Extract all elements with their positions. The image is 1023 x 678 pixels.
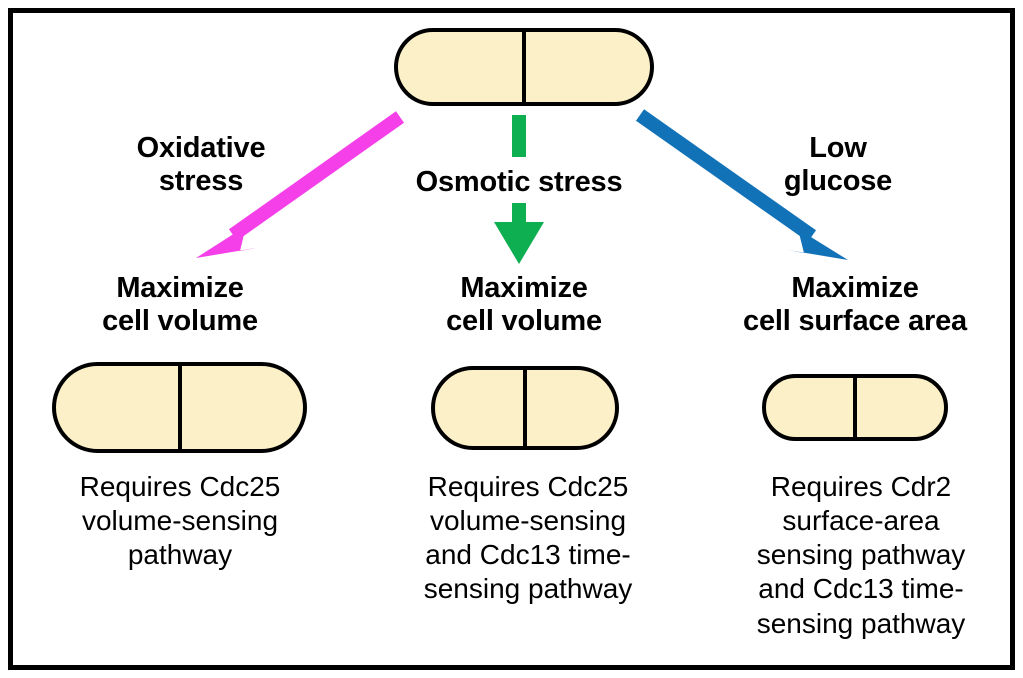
stress-label-oxidative-line-2: stress [76,165,326,198]
low-glucose-cell [762,374,948,441]
outcome-label-osmotic: Maximize cell volume [397,272,651,338]
outcome-label-low-glucose: Maximize cell surface area [710,272,1000,338]
caption-low-glucose-line-5: sensing pathway [722,607,1000,641]
caption-oxidative: Requires Cdc25 volume-sensing pathway [45,470,315,572]
outcome-label-oxidative-line-2: cell volume [53,305,307,338]
cell-septum [178,366,182,449]
outcome-label-osmotic-line-1: Maximize [397,272,651,305]
cell-septum [853,378,857,437]
osmotic-stress-cell [431,366,619,450]
caption-low-glucose-line-4: and Cdc13 time- [722,572,1000,606]
figure-canvas: Oxidative stress Osmotic stress Low gluc… [0,0,1023,678]
stress-label-oxidative-line-1: Oxidative [76,132,326,165]
outcome-label-oxidative: Maximize cell volume [53,272,307,338]
outcome-label-low-glucose-line-1: Maximize [710,272,1000,305]
caption-oxidative-line-3: pathway [45,538,315,572]
caption-osmotic-line-3: and Cdc13 time- [392,538,664,572]
caption-osmotic: Requires Cdc25 volume-sensing and Cdc13 … [392,470,664,607]
caption-osmotic-line-1: Requires Cdc25 [392,470,664,504]
caption-osmotic-line-2: volume-sensing [392,504,664,538]
stress-label-low-glucose: Low glucose [713,132,963,198]
caption-osmotic-line-4: sensing pathway [392,572,664,606]
stress-label-low-glucose-line-2: glucose [713,165,963,198]
caption-oxidative-line-2: volume-sensing [45,504,315,538]
caption-oxidative-line-1: Requires Cdc25 [45,470,315,504]
caption-low-glucose-line-2: surface-area [722,504,1000,538]
caption-low-glucose-line-3: sensing pathway [722,538,1000,572]
oxidative-stress-cell [52,362,307,453]
stress-label-low-glucose-line-1: Low [713,132,963,165]
stress-label-osmotic-line-1: Osmotic stress [394,166,644,199]
outcome-label-low-glucose-line-2: cell surface area [710,305,1000,338]
cell-septum [523,370,527,446]
outcome-label-osmotic-line-2: cell volume [397,305,651,338]
caption-low-glucose: Requires Cdr2 surface-area sensing pathw… [722,470,1000,641]
stress-label-oxidative: Oxidative stress [76,132,326,198]
stress-label-osmotic: Osmotic stress [394,166,644,199]
outcome-label-oxidative-line-1: Maximize [53,272,307,305]
caption-low-glucose-line-1: Requires Cdr2 [722,470,1000,504]
